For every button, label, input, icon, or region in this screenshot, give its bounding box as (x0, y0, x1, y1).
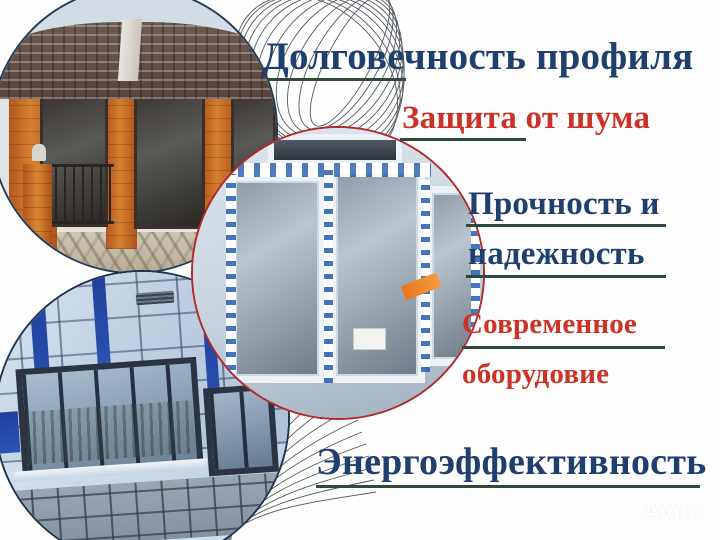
headline-modern-equipment-line1: Современное (462, 308, 637, 341)
veka-protective-film (324, 169, 334, 384)
windows-photo-artwork (193, 128, 483, 418)
headline-durability: Долговечность профиля (262, 34, 693, 79)
headline-modern-equipment-line2: оборудовие (462, 358, 609, 391)
house-corner-pillar (23, 164, 51, 244)
headline-underline-durability (268, 78, 406, 81)
advertisement-banner: Долговечность профиля Защита от шума Про… (0, 0, 720, 540)
window-sash (329, 166, 425, 384)
photo-circle-windows (193, 128, 483, 418)
facade-blue-accent (0, 411, 21, 453)
window-sash (228, 174, 327, 383)
house-roof-ridge (118, 19, 142, 81)
window-label-tag (353, 328, 387, 350)
headline-underline-noise (400, 138, 526, 141)
avito-watermark: Avito (612, 500, 704, 525)
window-transom (268, 134, 401, 166)
headline-underline-equipment (462, 346, 665, 349)
house-wall-lamp (32, 144, 46, 161)
headline-noise-protection: Защита от шума (402, 100, 650, 137)
headline-underline-strength (466, 224, 666, 227)
headline-energy-efficiency: Энергоэффективность (316, 440, 706, 484)
avito-dots-icon (612, 502, 638, 524)
veka-protective-film (226, 174, 235, 383)
headline-underline-efficiency (316, 485, 700, 488)
headline-underline-reliability (466, 275, 666, 278)
headline-reliability: надежность (468, 236, 645, 273)
headline-strength: Прочность и (468, 186, 660, 223)
avito-watermark-text: Avito (642, 500, 704, 525)
